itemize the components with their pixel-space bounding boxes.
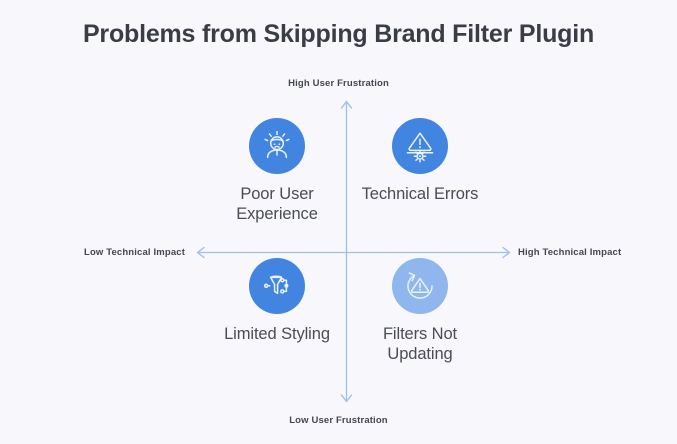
quadrant-label: Technical Errors (335, 184, 505, 204)
quadrant-filters-not-updating[interactable]: Filters Not Updating (335, 258, 505, 365)
quadrant-label: Filters Not Updating (335, 324, 505, 365)
refresh-warning-icon (392, 258, 448, 314)
quadrant-label-line: Updating (387, 345, 452, 363)
frustrated-user-icon (249, 118, 305, 174)
axis-label-low-user-frustration: Low User Frustration (0, 415, 677, 426)
quadrant-label-line: Technical Errors (362, 185, 479, 203)
quadrant-diagram-page: Problems from Skipping Brand Filter Plug… (0, 0, 677, 444)
quadrant-label-line: Poor User (240, 185, 313, 203)
quadrant-label-line: Filters Not (383, 325, 457, 343)
quadrant-technical-errors[interactable]: Technical Errors (335, 118, 505, 204)
axis-label-high-user-frustration: High User Frustration (0, 78, 677, 89)
quadrant-label-line: Limited Styling (224, 325, 330, 343)
page-title: Problems from Skipping Brand Filter Plug… (0, 20, 677, 49)
axis-label-low-technical-impact: Low Technical Impact (84, 247, 185, 258)
axis-label-high-technical-impact: High Technical Impact (518, 247, 621, 258)
warning-gear-icon (392, 118, 448, 174)
quadrant-label-line: Experience (236, 205, 318, 223)
filter-funnel-circuit-icon (249, 258, 305, 314)
